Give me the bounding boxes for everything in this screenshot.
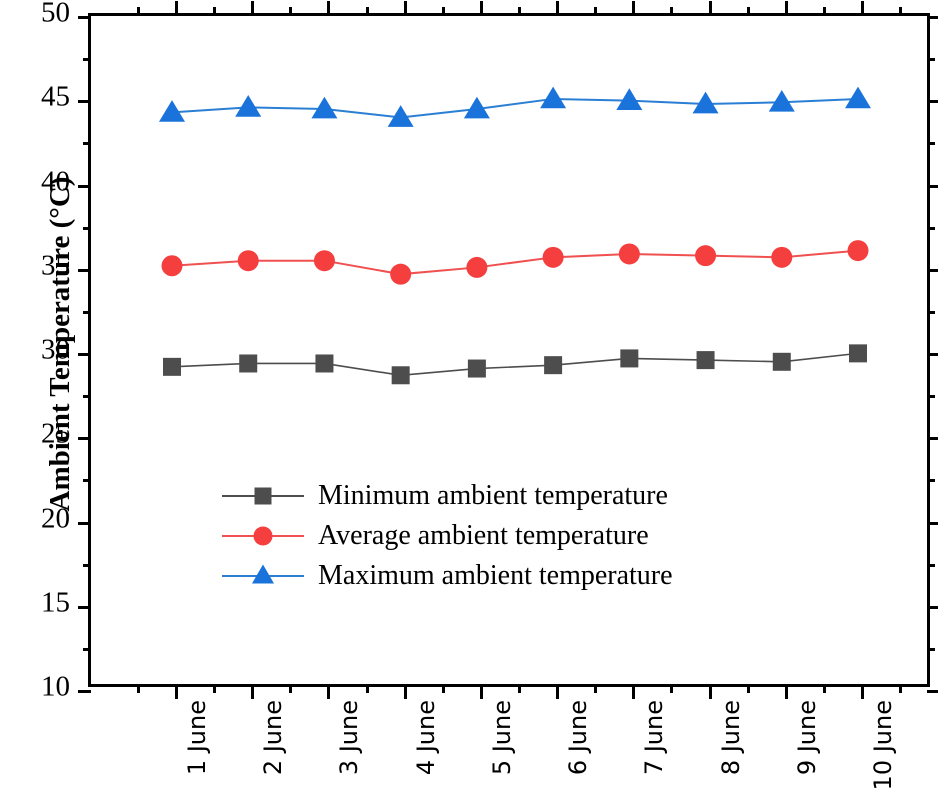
x-tick-major [709,684,712,699]
x-tick-minor [518,684,521,693]
legend-key-average [222,524,304,548]
x-tick-major-top [480,1,483,16]
y-tick-major-right [927,437,938,440]
y-tick-major [78,437,91,440]
x-tick-minor-top [594,7,597,16]
x-tick-major-top [404,1,407,16]
x-tick-minor-top [137,7,140,16]
y-tick-major-right [927,16,938,19]
chart-legend: Minimum ambient temperature Average ambi… [222,477,673,595]
x-tick-minor-top [823,7,826,16]
x-tick-minor [747,684,750,693]
x-tick-minor [137,684,140,693]
x-tick-major-top [251,1,254,16]
x-tick-major-top [327,1,330,16]
y-tick-label: 25 [41,418,70,451]
x-tick-major [327,684,330,699]
x-tick-minor [289,684,292,693]
circle-marker-icon [254,527,273,546]
x-tick-label: 9 June [793,700,821,775]
x-tick-minor-top [213,7,216,16]
y-tick-label: 30 [41,334,70,367]
y-tick-label: 50 [41,0,70,30]
x-tick-major-top [175,1,178,16]
x-tick-label: 6 June [564,700,592,775]
y-tick-major [78,16,91,19]
y-tick-label: 10 [41,671,70,704]
y-tick-major-right [927,690,938,693]
x-tick-minor-top [747,7,750,16]
x-tick-minor [213,684,216,693]
x-tick-major [480,684,483,699]
y-tick-major-right [927,606,938,609]
y-tick-minor-right [927,395,935,398]
legend-key-minimum [222,484,304,508]
x-tick-minor-top [518,7,521,16]
x-tick-major [404,684,407,699]
legend-item-average[interactable]: Average ambient temperature [222,517,673,555]
x-tick-minor [899,684,902,693]
legend-label-maximum: Maximum ambient temperature [318,560,673,592]
x-tick-major-top [556,1,559,16]
legend-label-minimum: Minimum ambient temperature [318,480,668,512]
x-tick-major [632,684,635,699]
y-tick-minor [83,142,91,145]
x-tick-label: 5 June [488,700,516,775]
y-tick-major [78,690,91,693]
y-tick-major [78,522,91,525]
x-tick-major-top [632,1,635,16]
y-tick-label: 15 [41,586,70,619]
x-tick-label: 8 June [717,700,745,775]
legend-label-average: Average ambient temperature [318,520,649,552]
x-tick-minor-top [366,7,369,16]
legend-item-minimum[interactable]: Minimum ambient temperature [222,477,673,515]
x-tick-major [175,684,178,699]
x-tick-major-top [785,1,788,16]
y-tick-minor [83,648,91,651]
y-tick-major [78,185,91,188]
x-axis-clipped-label: -- [924,700,938,730]
x-tick-major [785,684,788,699]
y-tick-label: 40 [41,165,70,198]
x-tick-minor-top [670,7,673,16]
legend-item-maximum[interactable]: Maximum ambient temperature [222,557,673,595]
legend-key-maximum [222,564,304,588]
y-tick-major [78,353,91,356]
y-tick-minor [83,227,91,230]
y-tick-major-right [927,100,938,103]
x-tick-minor [594,684,597,693]
x-tick-label: 10 June [869,700,897,790]
x-tick-major [556,684,559,699]
y-tick-label: 35 [41,249,70,282]
y-tick-minor-right [927,564,935,567]
x-tick-major-top [861,1,864,16]
y-tick-minor-right [927,227,935,230]
y-tick-minor-right [927,58,935,61]
y-tick-minor [83,395,91,398]
y-tick-minor [83,311,91,314]
x-tick-minor [670,684,673,693]
y-tick-label: 45 [41,81,70,114]
x-tick-minor-top [289,7,292,16]
x-tick-minor [823,684,826,693]
x-tick-minor [366,684,369,693]
y-tick-minor-right [927,479,935,482]
square-marker-icon [255,488,272,505]
x-tick-major [251,684,254,699]
y-tick-minor [83,58,91,61]
x-tick-major [861,684,864,699]
x-tick-minor-top [899,7,902,16]
y-tick-major-right [927,522,938,525]
x-tick-minor-top [442,7,445,16]
x-tick-major-top [709,1,712,16]
y-tick-major-right [927,185,938,188]
x-tick-label: 3 June [335,700,363,775]
y-tick-minor [83,564,91,567]
chart-figure: Ambient Temperature (°C) 504540353025201… [0,0,938,805]
y-tick-major [78,100,91,103]
x-tick-label: 2 June [259,700,287,775]
y-tick-minor [83,479,91,482]
x-tick-minor [442,684,445,693]
x-tick-label: 7 June [640,700,668,775]
y-tick-minor-right [927,648,935,651]
y-tick-major-right [927,269,938,272]
y-tick-major-right [927,353,938,356]
y-tick-major [78,269,91,272]
x-tick-label: 4 June [412,700,440,775]
y-tick-minor-right [927,142,935,145]
x-tick-label: 1 June [183,700,211,775]
triangle-marker-icon [252,565,274,584]
y-tick-major [78,606,91,609]
y-tick-minor-right [927,311,935,314]
y-tick-label: 20 [41,502,70,535]
